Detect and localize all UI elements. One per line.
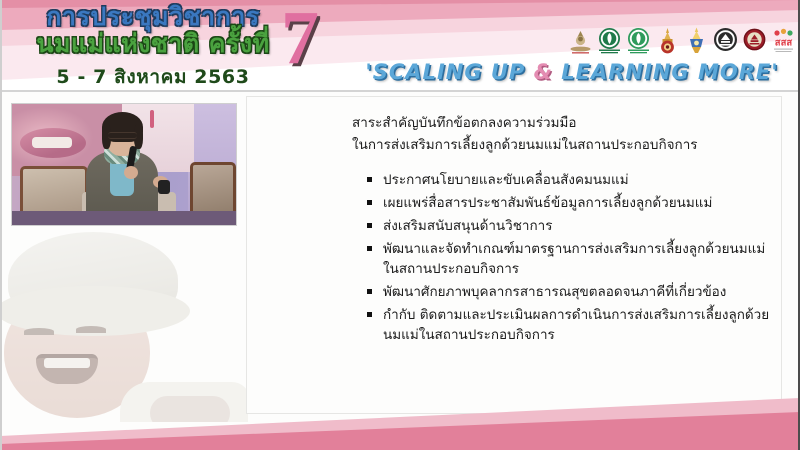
content-heading-line-1: สาระสำคัญบันทึกข้อตกลงความร่วมมือ (352, 112, 772, 134)
baby-teeth (44, 358, 90, 368)
poster-teeth-graphic (32, 137, 72, 148)
thaihealth-sss-logo: สสส (771, 27, 796, 55)
list-item: พัฒนาศักยภาพบุคลากรสาธารณสุขตลอดจนภาคีที… (366, 282, 774, 302)
baby-photo-watermark (0, 232, 248, 422)
poster-accent-mark (150, 110, 154, 128)
baby-eye-right (76, 326, 106, 333)
content-heading-line-2: ในการส่งเสริมการเลี้ยงลูกด้วยนมแม่ในสถาน… (352, 134, 772, 156)
conference-date: 5 - 7 สิงหาคม 2563 (18, 62, 288, 92)
speaker-glasses (108, 132, 137, 139)
svg-text:สสส: สสส (775, 38, 793, 49)
tagline-text-end: LEARNING MORE' (553, 60, 779, 84)
speaker-hand-left (124, 166, 138, 179)
list-item: พัฒนาและจัดทำเกณฑ์มาตรฐานการส่งเสริมการเ… (366, 239, 774, 279)
ministry-of-public-health-logo (597, 27, 622, 55)
conference-title: การประชุมวิชาการ นมแม่แห่งชาติ ครั้งที่ (18, 4, 288, 56)
slide-left-edge (0, 0, 2, 450)
header-bottom-divider (0, 90, 800, 92)
royal-garuda-emblem-logo (684, 27, 709, 55)
presentation-slide: การประชุมวิชาการ นมแม่แห่งชาติ ครั้งที่ … (0, 0, 800, 450)
conference-header-banner: การประชุมวิชาการ นมแม่แห่งชาติ ครั้งที่ … (0, 0, 800, 92)
health-department-logo (626, 27, 651, 55)
list-item: ส่งเสริมสนับสนุนด้านวิชาการ (366, 216, 774, 236)
stage-floor (12, 211, 237, 225)
content-heading: สาระสำคัญบันทึกข้อตกลงความร่วมมือ ในการส… (352, 112, 772, 156)
national-institute-logo (713, 27, 738, 55)
presentation-clicker (158, 180, 170, 194)
content-bullet-list: ประกาศนโยบายและขับเคลื่อนสังคมนมแม่ เผยแ… (366, 170, 774, 348)
baby-eye-left (24, 328, 54, 335)
list-item: กำกับ ติดตามและประเมินผลการดำเนินการส่งเ… (366, 305, 774, 345)
royal-emblem-logo (568, 27, 593, 55)
speaker-webcam-feed[interactable] (11, 103, 237, 226)
partner-organization-logos: สสส (568, 26, 796, 56)
footer-pink-bands (0, 398, 800, 450)
conference-tagline: 'SCALING UP & LEARNING MORE' (362, 60, 782, 84)
list-item: เผยแพร่สื่อสารประชาสัมพันธ์ข้อมูลการเลี้… (366, 193, 774, 213)
tagline-ampersand: & (534, 60, 553, 84)
red-circular-seal-logo (742, 27, 767, 55)
conference-title-line-2: นมแม่แห่งชาติ ครั้งที่ (18, 31, 288, 56)
tagline-text-start: 'SCALING UP (365, 60, 533, 84)
edition-number-seven: 7 (281, 0, 319, 76)
conference-title-line-1: การประชุมวิชาการ (18, 4, 288, 29)
list-item: ประกาศนโยบายและขับเคลื่อนสังคมนมแม่ (366, 170, 774, 190)
thai-pagoda-emblem-logo (655, 27, 680, 55)
